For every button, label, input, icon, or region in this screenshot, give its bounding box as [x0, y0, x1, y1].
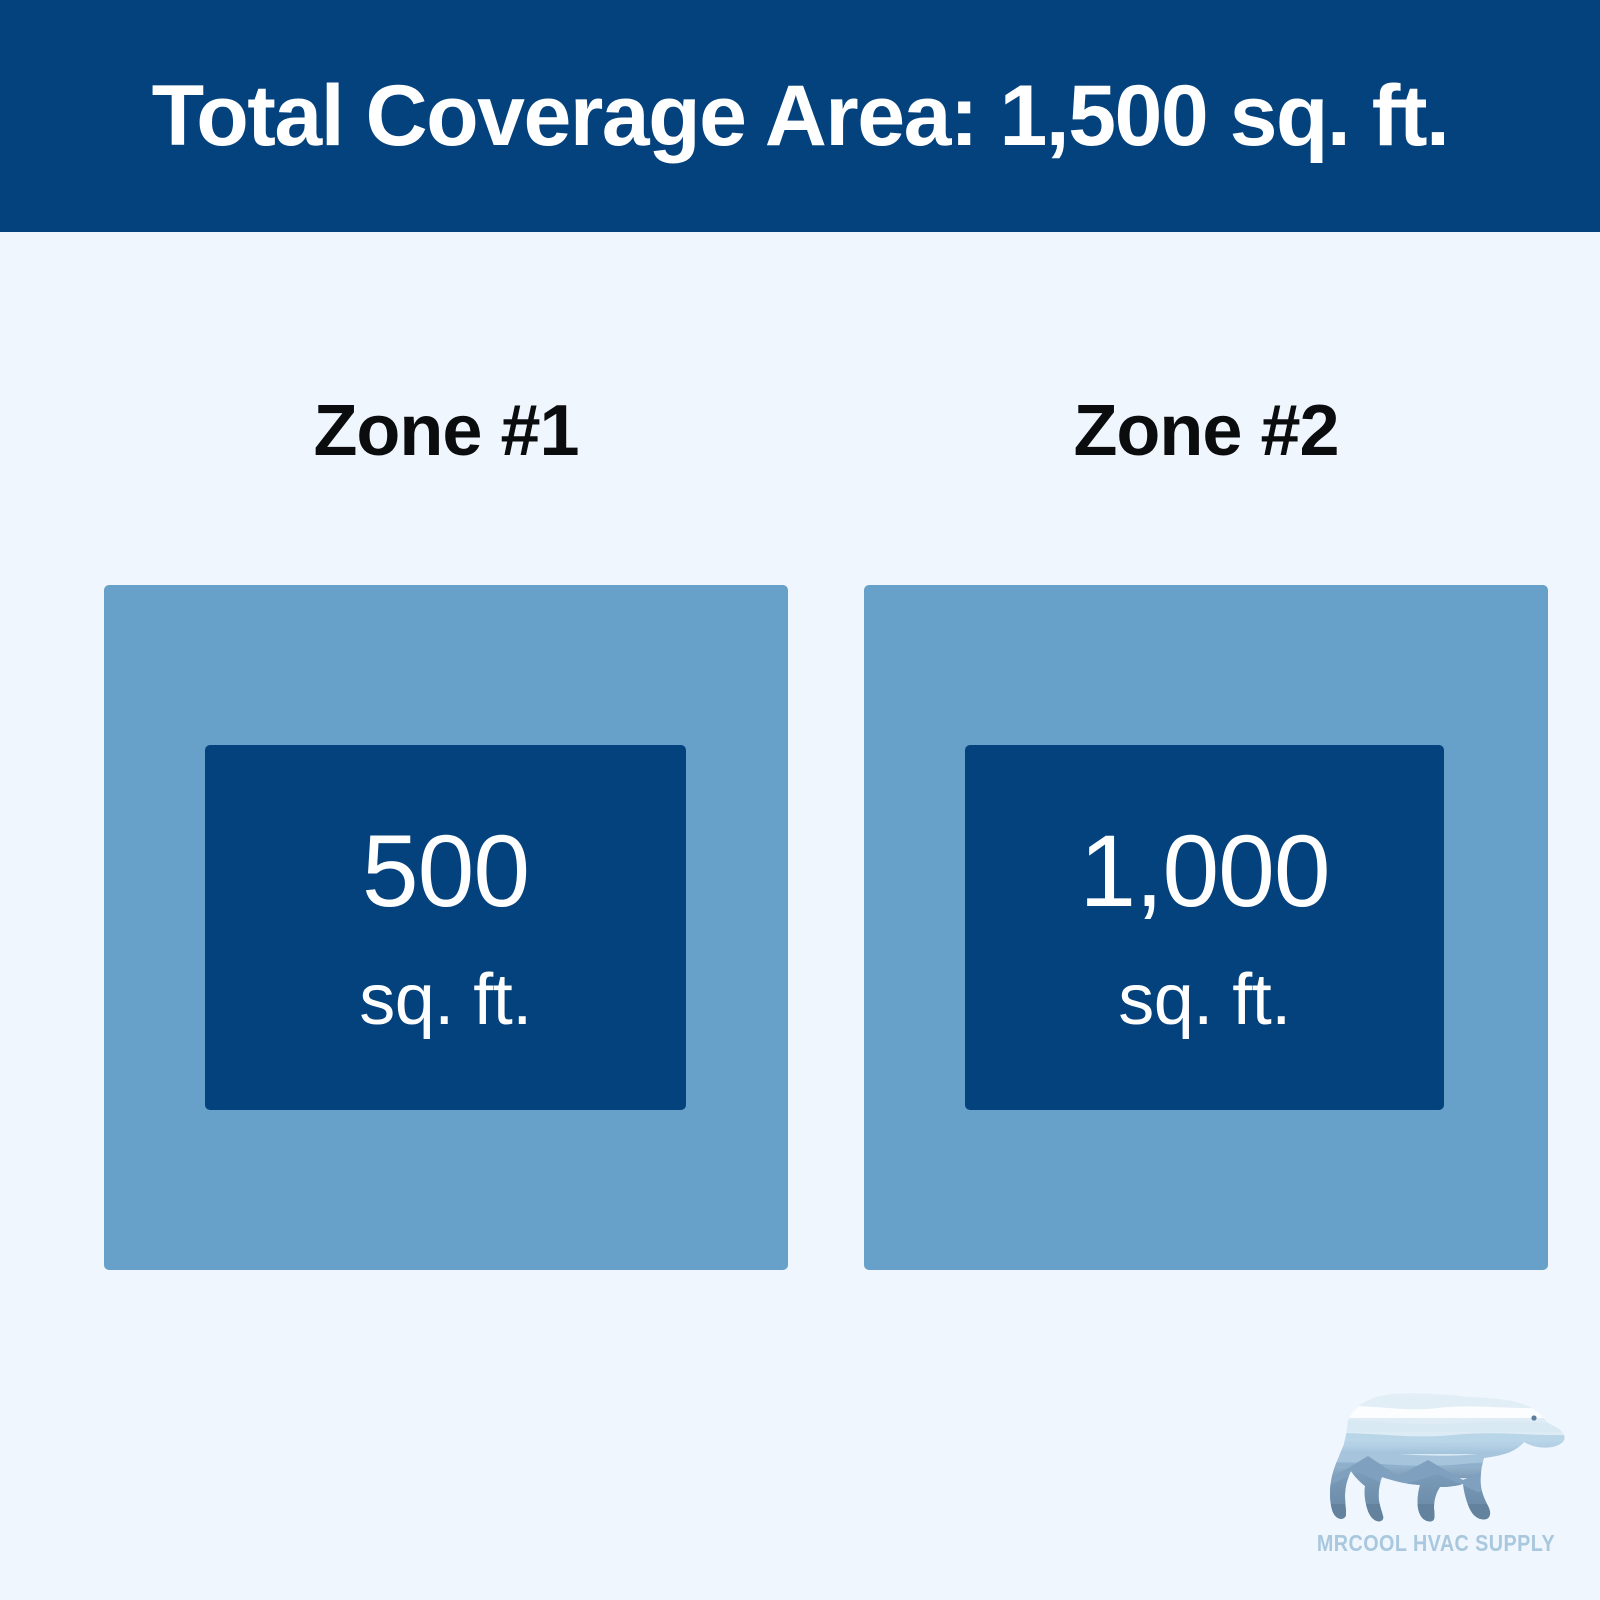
zone-2-unit: sq. ft. — [1118, 964, 1291, 1036]
zone-1-value: 500 — [362, 820, 529, 922]
zone-2-label: Zone #2 — [864, 395, 1548, 467]
polar-bear-icon — [1288, 1368, 1584, 1528]
infographic-canvas: Total Coverage Area: 1,500 sq. ft. Zone … — [0, 0, 1600, 1600]
zone-1-outer-area: 500 sq. ft. — [104, 585, 788, 1270]
zone-1-label: Zone #1 — [104, 395, 788, 467]
brand-logo: MRCOOL HVAC SUPPLY — [1288, 1368, 1584, 1578]
zone-2-outer-area: 1,000 sq. ft. — [864, 585, 1548, 1270]
zone-1-inner-area: 500 sq. ft. — [205, 745, 686, 1110]
zone-1-unit: sq. ft. — [359, 964, 532, 1036]
zone-2-value: 1,000 — [1079, 820, 1329, 922]
header-bar: Total Coverage Area: 1,500 sq. ft. — [0, 0, 1600, 232]
logo-wordmark: MRCOOL HVAC SUPPLY — [1309, 1530, 1564, 1557]
zone-2-inner-area: 1,000 sq. ft. — [965, 745, 1444, 1110]
page-title: Total Coverage Area: 1,500 sq. ft. — [152, 73, 1449, 159]
